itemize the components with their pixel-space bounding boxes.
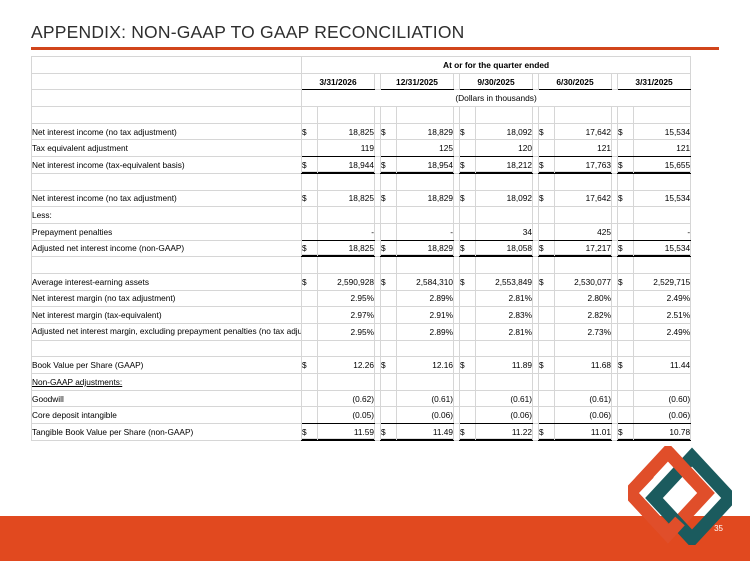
spacer-cell — [476, 257, 533, 274]
non-gaap-reconciliation-table: At or for the quarter ended 3/31/2026 12… — [31, 56, 691, 441]
row-symbol — [302, 407, 318, 424]
row-label: Average interest-earning assets — [32, 273, 302, 290]
row-value: 18,825 — [318, 240, 375, 257]
row-symbol: $ — [302, 240, 318, 257]
row-symbol — [460, 290, 476, 307]
table-row: Net interest income (no tax adjustment) … — [32, 190, 691, 207]
row-value: (0.06) — [634, 407, 691, 424]
spacer-row — [32, 340, 691, 357]
page-title: APPENDIX: NON-GAAP TO GAAP RECONCILIATIO… — [31, 22, 465, 43]
spacer-cell — [539, 340, 555, 357]
row-value — [397, 207, 454, 224]
row-value: (0.61) — [476, 390, 533, 407]
row-symbol: $ — [302, 157, 318, 174]
row-value: 11.22 — [476, 424, 533, 441]
row-value: 18,058 — [476, 240, 533, 257]
row-label: Net interest income (no tax adjustment) — [32, 123, 302, 140]
row-value: 15,534 — [634, 240, 691, 257]
row-value: 17,642 — [555, 123, 612, 140]
row-value — [555, 374, 612, 391]
spacer-cell — [397, 173, 454, 190]
spacer-cell — [460, 107, 476, 124]
row-value: 10.78 — [634, 424, 691, 441]
row-value: 121 — [555, 140, 612, 157]
row-symbol — [539, 307, 555, 324]
spacer-cell — [618, 257, 634, 274]
table-row: Adjusted net interest margin, excluding … — [32, 324, 691, 341]
row-symbol: $ — [618, 424, 634, 441]
row-symbol — [460, 407, 476, 424]
table-row: Net interest margin (tax-equivalent) 2.9… — [32, 307, 691, 324]
spacer-cell — [634, 340, 691, 357]
row-value: 2,553,849 — [476, 273, 533, 290]
row-value: 2.83% — [476, 307, 533, 324]
row-symbol: $ — [381, 424, 397, 441]
table-row: Tax equivalent adjustment 119 125 120 12… — [32, 140, 691, 157]
spacer-cell — [476, 107, 533, 124]
units-blank — [32, 90, 302, 107]
row-symbol — [618, 390, 634, 407]
row-symbol: $ — [381, 190, 397, 207]
spacer-cell — [318, 340, 375, 357]
spacer-cell — [397, 257, 454, 274]
row-symbol — [302, 390, 318, 407]
row-value: 2.49% — [634, 290, 691, 307]
row-symbol — [460, 374, 476, 391]
spacer-label — [32, 257, 302, 274]
row-symbol — [618, 140, 634, 157]
row-symbol: $ — [618, 273, 634, 290]
table-row: Core deposit intangible (0.05) (0.06) (0… — [32, 407, 691, 424]
table-row: Book Value per Share (GAAP) $ 12.26 $ 12… — [32, 357, 691, 374]
row-symbol: $ — [539, 240, 555, 257]
row-value: 18,092 — [476, 190, 533, 207]
row-value: 125 — [397, 140, 454, 157]
table-row: Non-GAAP adjustments: — [32, 374, 691, 391]
row-symbol: $ — [539, 190, 555, 207]
row-symbol: $ — [539, 123, 555, 140]
row-symbol: $ — [539, 424, 555, 441]
row-value: 15,534 — [634, 123, 691, 140]
row-value: 2.81% — [476, 324, 533, 341]
column-header-3: 6/30/2025 — [539, 73, 612, 90]
row-symbol — [460, 324, 476, 341]
row-value: (0.05) — [318, 407, 375, 424]
table-row: Goodwill (0.62) (0.61) (0.61) (0.61) (0.… — [32, 390, 691, 407]
spacer-cell — [476, 340, 533, 357]
row-symbol — [618, 324, 634, 341]
spacer-cell — [302, 107, 318, 124]
row-label: Book Value per Share (GAAP) — [32, 357, 302, 374]
spacer-cell — [539, 257, 555, 274]
row-symbol — [460, 223, 476, 240]
row-value: 18,944 — [318, 157, 375, 174]
spacer-cell — [381, 107, 397, 124]
row-label: Net interest income (no tax adjustment) — [32, 190, 302, 207]
row-symbol — [302, 290, 318, 307]
row-label: Net interest income (tax-equivalent basi… — [32, 157, 302, 174]
row-symbol — [539, 207, 555, 224]
table-row: Adjusted net interest income (non-GAAP) … — [32, 240, 691, 257]
row-value — [397, 374, 454, 391]
row-symbol: $ — [302, 123, 318, 140]
row-symbol: $ — [302, 357, 318, 374]
row-symbol — [381, 390, 397, 407]
row-symbol — [302, 307, 318, 324]
row-value — [634, 374, 691, 391]
spacer-cell — [618, 340, 634, 357]
row-value — [318, 207, 375, 224]
row-symbol — [460, 390, 476, 407]
row-value: (0.62) — [318, 390, 375, 407]
row-label: Tax equivalent adjustment — [32, 140, 302, 157]
row-label: Net interest margin (tax-equivalent) — [32, 307, 302, 324]
row-symbol: $ — [539, 273, 555, 290]
row-label: Net interest margin (no tax adjustment) — [32, 290, 302, 307]
spacer-cell — [302, 173, 318, 190]
row-symbol — [539, 223, 555, 240]
row-symbol — [381, 307, 397, 324]
non-gaap-adjustments-label: Non-GAAP adjustments: — [32, 377, 122, 387]
row-symbol: $ — [302, 273, 318, 290]
column-header-4: 3/31/2025 — [618, 73, 691, 90]
row-label: Tangible Book Value per Share (non-GAAP) — [32, 424, 302, 441]
row-value: 2.82% — [555, 307, 612, 324]
spacer-cell — [618, 173, 634, 190]
row-value: 2.49% — [634, 324, 691, 341]
row-value: 11.59 — [318, 424, 375, 441]
spacer-cell — [555, 257, 612, 274]
spacer-label — [32, 340, 302, 357]
row-symbol: $ — [618, 157, 634, 174]
spacer-label — [32, 107, 302, 124]
row-symbol — [460, 207, 476, 224]
row-value: 2,530,077 — [555, 273, 612, 290]
table-row: Prepayment penalties - - 34 425 - — [32, 223, 691, 240]
row-symbol: $ — [381, 273, 397, 290]
row-symbol — [618, 290, 634, 307]
spacer-cell — [460, 173, 476, 190]
row-value: 425 — [555, 223, 612, 240]
row-symbol — [302, 140, 318, 157]
row-symbol: $ — [460, 240, 476, 257]
header-blank — [32, 73, 302, 90]
spacer-cell — [476, 173, 533, 190]
spacer-cell — [381, 340, 397, 357]
row-symbol: $ — [460, 273, 476, 290]
row-value: 120 — [476, 140, 533, 157]
row-symbol — [381, 207, 397, 224]
column-header-0: 3/31/2026 — [302, 73, 375, 90]
row-value: 2.89% — [397, 324, 454, 341]
spacer-cell — [397, 340, 454, 357]
row-symbol — [381, 290, 397, 307]
row-symbol — [302, 324, 318, 341]
row-value: 2.95% — [318, 324, 375, 341]
row-symbol — [381, 324, 397, 341]
quarter-ended-header: At or for the quarter ended — [302, 57, 691, 74]
row-symbol — [618, 374, 634, 391]
spacer-cell — [318, 107, 375, 124]
row-value: 2.97% — [318, 307, 375, 324]
row-value: (0.06) — [555, 407, 612, 424]
row-label: Less: — [32, 207, 302, 224]
page-number: 35 — [714, 524, 723, 533]
row-value: (0.06) — [476, 407, 533, 424]
row-symbol — [381, 223, 397, 240]
spacer-cell — [318, 173, 375, 190]
title-underline-rule — [31, 47, 719, 50]
spacer-cell — [539, 173, 555, 190]
row-value: 2.89% — [397, 290, 454, 307]
row-value: (0.60) — [634, 390, 691, 407]
row-symbol — [381, 140, 397, 157]
row-symbol: $ — [539, 357, 555, 374]
table-row: Average interest-earning assets $ 2,590,… — [32, 273, 691, 290]
table-header-date-row: 3/31/2026 12/31/2025 9/30/2025 6/30/2025… — [32, 73, 691, 90]
row-value: (0.06) — [397, 407, 454, 424]
row-symbol: $ — [460, 123, 476, 140]
row-symbol: $ — [460, 190, 476, 207]
row-value: 2.51% — [634, 307, 691, 324]
row-value: 18,954 — [397, 157, 454, 174]
row-symbol — [539, 324, 555, 341]
row-value: 11.89 — [476, 357, 533, 374]
row-label: Adjusted net interest income (non-GAAP) — [32, 240, 302, 257]
row-label: Core deposit intangible — [32, 407, 302, 424]
row-symbol — [302, 223, 318, 240]
spacer-cell — [302, 257, 318, 274]
row-value: 2.95% — [318, 290, 375, 307]
column-header-2: 9/30/2025 — [460, 73, 533, 90]
row-value: 34 — [476, 223, 533, 240]
row-symbol: $ — [302, 424, 318, 441]
spacer-cell — [318, 257, 375, 274]
table-row: Net interest margin (no tax adjustment) … — [32, 290, 691, 307]
row-symbol: $ — [381, 157, 397, 174]
row-value: 2,590,928 — [318, 273, 375, 290]
spacer-cell — [634, 257, 691, 274]
row-symbol: $ — [381, 357, 397, 374]
row-symbol: $ — [460, 424, 476, 441]
row-value: 2,529,715 — [634, 273, 691, 290]
row-label: Non-GAAP adjustments: — [32, 374, 302, 391]
row-symbol: $ — [539, 157, 555, 174]
row-value: 18,829 — [397, 190, 454, 207]
table-header-span-row: At or for the quarter ended — [32, 57, 691, 74]
spacer-cell — [634, 173, 691, 190]
row-value: 2.91% — [397, 307, 454, 324]
row-value — [318, 374, 375, 391]
row-value — [476, 207, 533, 224]
row-value: - — [634, 223, 691, 240]
spacer-row — [32, 257, 691, 274]
row-label: Goodwill — [32, 390, 302, 407]
spacer-cell — [397, 107, 454, 124]
row-value: - — [397, 223, 454, 240]
row-value: 18,829 — [397, 123, 454, 140]
spacer-cell — [460, 340, 476, 357]
row-symbol: $ — [381, 123, 397, 140]
table-units-row: (Dollars in thousands) — [32, 90, 691, 107]
row-value: 15,534 — [634, 190, 691, 207]
row-value: - — [318, 223, 375, 240]
row-value: 18,212 — [476, 157, 533, 174]
table-row: Less: — [32, 207, 691, 224]
row-value — [476, 374, 533, 391]
row-value: 18,829 — [397, 240, 454, 257]
row-value: (0.61) — [555, 390, 612, 407]
row-symbol: $ — [618, 190, 634, 207]
table-row: Net interest income (tax-equivalent basi… — [32, 157, 691, 174]
spacer-row — [32, 173, 691, 190]
table-row: Net interest income (no tax adjustment) … — [32, 123, 691, 140]
units-note: (Dollars in thousands) — [302, 90, 691, 107]
row-value: 2.81% — [476, 290, 533, 307]
row-symbol — [539, 407, 555, 424]
row-value: (0.61) — [397, 390, 454, 407]
row-symbol — [460, 307, 476, 324]
row-value: 11.44 — [634, 357, 691, 374]
spacer-label — [32, 173, 302, 190]
row-symbol — [539, 390, 555, 407]
spacer-cell — [555, 107, 612, 124]
spacer-cell — [539, 107, 555, 124]
row-value: 11.68 — [555, 357, 612, 374]
row-value: 18,825 — [318, 123, 375, 140]
row-symbol — [381, 374, 397, 391]
row-value: 15,655 — [634, 157, 691, 174]
row-symbol — [460, 140, 476, 157]
row-symbol: $ — [618, 357, 634, 374]
row-value: 17,642 — [555, 190, 612, 207]
table-row: Tangible Book Value per Share (non-GAAP)… — [32, 424, 691, 441]
row-label: Adjusted net interest margin, excluding … — [32, 324, 302, 341]
row-symbol — [618, 407, 634, 424]
row-value: 11.49 — [397, 424, 454, 441]
header-corner-blank — [32, 57, 302, 74]
row-symbol: $ — [302, 190, 318, 207]
row-symbol — [302, 374, 318, 391]
row-symbol — [381, 407, 397, 424]
row-value: 2.80% — [555, 290, 612, 307]
row-value: 2,584,310 — [397, 273, 454, 290]
row-value: 18,092 — [476, 123, 533, 140]
row-symbol — [618, 207, 634, 224]
row-value — [634, 207, 691, 224]
row-value: 18,825 — [318, 190, 375, 207]
spacer-cell — [634, 107, 691, 124]
row-value — [555, 207, 612, 224]
spacer-row — [32, 107, 691, 124]
spacer-cell — [618, 107, 634, 124]
row-symbol: $ — [618, 123, 634, 140]
row-value: 121 — [634, 140, 691, 157]
row-symbol — [539, 140, 555, 157]
row-symbol: $ — [460, 157, 476, 174]
row-value: 17,217 — [555, 240, 612, 257]
spacer-cell — [381, 173, 397, 190]
row-value: 11.01 — [555, 424, 612, 441]
spacer-cell — [460, 257, 476, 274]
row-symbol: $ — [618, 240, 634, 257]
row-value: 2.73% — [555, 324, 612, 341]
row-symbol — [618, 223, 634, 240]
row-symbol: $ — [460, 357, 476, 374]
column-header-1: 12/31/2025 — [381, 73, 454, 90]
row-symbol — [302, 207, 318, 224]
row-value: 12.16 — [397, 357, 454, 374]
row-value: 119 — [318, 140, 375, 157]
row-value: 12.26 — [318, 357, 375, 374]
row-symbol: $ — [381, 240, 397, 257]
row-label: Prepayment penalties — [32, 223, 302, 240]
row-value: 17,763 — [555, 157, 612, 174]
spacer-cell — [302, 340, 318, 357]
row-symbol — [539, 374, 555, 391]
row-symbol — [618, 307, 634, 324]
spacer-cell — [381, 257, 397, 274]
spacer-cell — [555, 340, 612, 357]
spacer-cell — [555, 173, 612, 190]
row-symbol — [539, 290, 555, 307]
